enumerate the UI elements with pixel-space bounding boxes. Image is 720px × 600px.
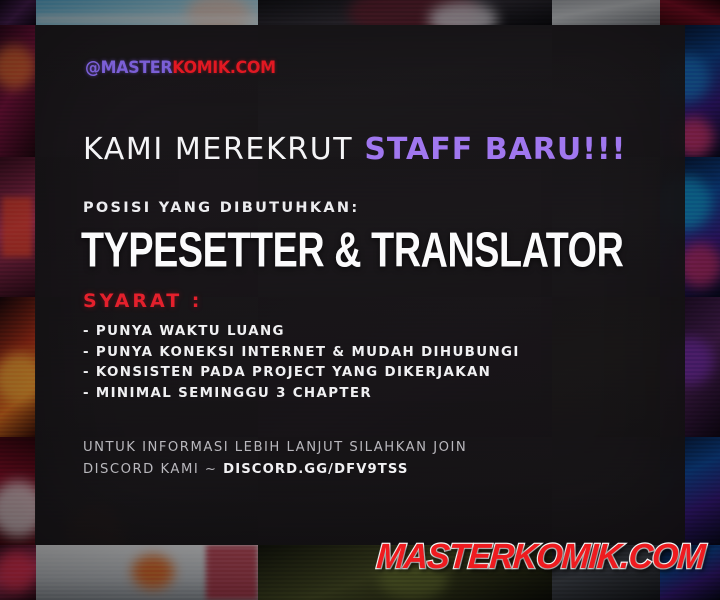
collage-tile (258, 0, 552, 25)
positions-label: POSISI YANG DIBUTUHKAN: (83, 200, 359, 216)
list-item: - PUNYA KONEKSI INTERNET & MUDAH DIHUBUN… (83, 343, 520, 364)
collage-tile (0, 0, 36, 25)
content-panel: @MASTERKOMIK.COM KAMI MEREKRUT STAFF BAR… (35, 25, 685, 545)
headline-accent: STAFF BARU!!! (364, 132, 626, 167)
discord-invite-link[interactable]: DISCORD.GG/DFV9TSS (223, 462, 408, 477)
contact-info-prefix: DISCORD KAMI ~ (83, 462, 223, 477)
list-item: - KONSISTEN PADA PROJECT YANG DIKERJAKAN (83, 363, 520, 384)
list-item: - PUNYA WAKTU LUANG (83, 322, 520, 343)
positions-value: TYPESETTER & TRANSLATOR (81, 225, 623, 274)
site-brand-watermark: MASTERKOMIK.COM (375, 537, 705, 577)
collage-tile (36, 545, 258, 600)
requirements-heading: SYARAT : (83, 290, 202, 312)
contact-info-line1: UNTUK INFORMASI LEBIH LANJUT SILAHKAN JO… (83, 437, 467, 459)
contact-info-line2: DISCORD KAMI ~ DISCORD.GG/DFV9TSS (83, 459, 467, 481)
requirements-list: - PUNYA WAKTU LUANG - PUNYA KONEKSI INTE… (83, 322, 520, 405)
collage-tile (0, 297, 36, 437)
collage-tile (660, 0, 720, 25)
site-brand-top: @MASTERKOMIK.COM (85, 58, 276, 78)
recruitment-poster: @MASTERKOMIK.COM KAMI MEREKRUT STAFF BAR… (0, 0, 720, 600)
brand-top-prefix: @MASTER (85, 58, 172, 78)
collage-tile (0, 157, 36, 297)
page-title: KAMI MEREKRUT STAFF BARU!!! (83, 132, 626, 167)
headline-plain: KAMI MEREKRUT (83, 132, 364, 167)
collage-tile (0, 437, 36, 545)
list-item: - MINIMAL SEMINGGU 3 CHAPTER (83, 384, 520, 405)
collage-tile (552, 0, 660, 25)
brand-top-suffix: KOMIK.COM (172, 58, 275, 78)
collage-tile (36, 0, 258, 25)
contact-info: UNTUK INFORMASI LEBIH LANJUT SILAHKAN JO… (83, 437, 467, 481)
collage-tile (0, 25, 36, 157)
collage-tile (0, 545, 36, 600)
